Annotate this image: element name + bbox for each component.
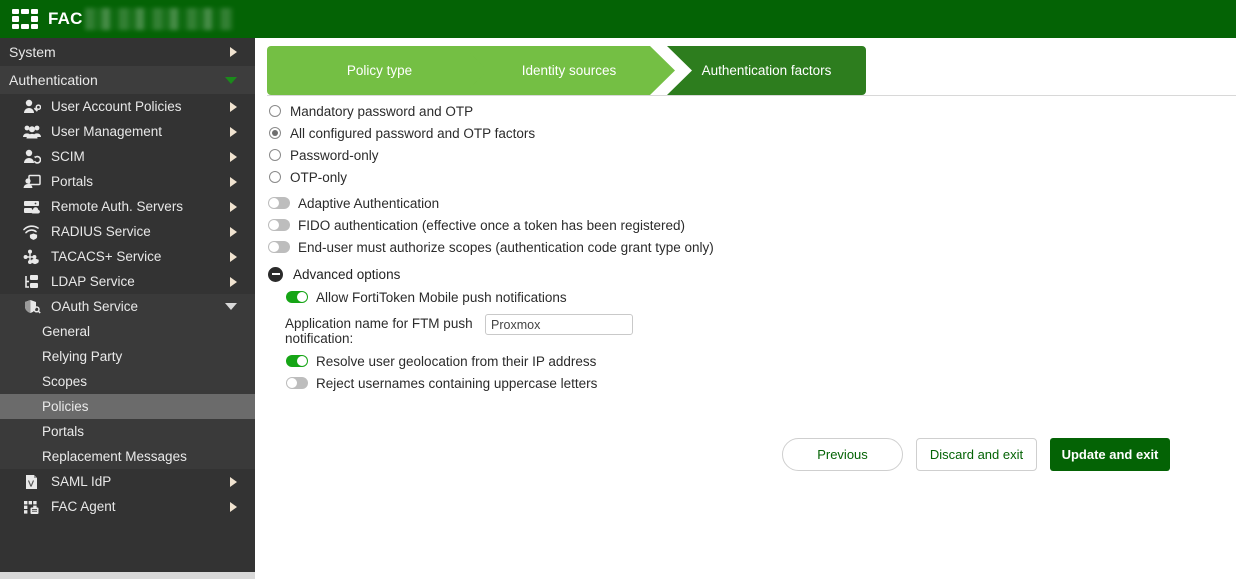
brand-title: FAC	[48, 9, 83, 29]
sidebar-item-label: OAuth Service	[51, 299, 225, 314]
ftm-app-name-label: Application name for FTM push notificati…	[285, 314, 485, 346]
sidebar-item-scim[interactable]: SCIM	[0, 144, 255, 169]
toggle-label: Resolve user geolocation from their IP a…	[316, 354, 596, 369]
sidebar-item-user-management[interactable]: User Management	[0, 119, 255, 144]
radio-option-otp-only[interactable]: OTP-only	[267, 166, 1227, 188]
user-sync-icon	[22, 148, 42, 166]
sidebar-item-label: Scopes	[42, 374, 87, 389]
sidebar-item-label: Portals	[51, 174, 230, 189]
sidebar-item-relying-party[interactable]: Relying Party	[0, 344, 255, 369]
toggle-row-fido-auth[interactable]: FIDO authentication (effective once a to…	[267, 214, 1227, 236]
chevron-right-icon	[230, 152, 237, 162]
sidebar-item-label: Policies	[42, 399, 89, 414]
sidebar-item-label: LDAP Service	[51, 274, 230, 289]
sidebar-item-remote-auth-servers[interactable]: Remote Auth. Servers	[0, 194, 255, 219]
toggle-row-ftm-push[interactable]: Allow FortiToken Mobile push notificatio…	[285, 286, 1227, 308]
chevron-right-icon	[230, 102, 237, 112]
sidebar-item-label: General	[42, 324, 90, 339]
chevron-right-icon	[230, 502, 237, 512]
toggle-label: FIDO authentication (effective once a to…	[298, 218, 685, 233]
toggle-end-user-authorize-scopes[interactable]	[268, 241, 290, 253]
radio-all-configured-factors[interactable]	[269, 127, 281, 139]
oauth-service-group: OAuth Service General Relying Party Scop…	[0, 294, 255, 469]
toggle-resolve-user-geolocation[interactable]	[286, 355, 308, 367]
toggle-row-adaptive-auth[interactable]: Adaptive Authentication	[267, 192, 1227, 214]
sidebar-bottom-strip	[0, 572, 255, 579]
radio-password-only[interactable]	[269, 149, 281, 161]
wizard-step-label: Policy type	[347, 63, 412, 78]
chevron-right-icon	[230, 227, 237, 237]
authentication-factors-form: Mandatory password and OTP All configure…	[267, 100, 1227, 394]
sidebar-item-label: User Management	[51, 124, 230, 139]
chevron-right-icon	[230, 202, 237, 212]
toggle-label: End-user must authorize scopes (authenti…	[298, 240, 714, 255]
radius-wifi-icon	[22, 223, 42, 241]
form-actions: Previous Discard and exit Update and exi…	[782, 438, 1170, 471]
sidebar-item-label: System	[9, 44, 230, 60]
radio-label: OTP-only	[290, 170, 347, 185]
toggle-label: Allow FortiToken Mobile push notificatio…	[316, 290, 567, 305]
sidebar-item-label: SAML IdP	[51, 474, 230, 489]
sidebar-item-fac-agent[interactable]: FAC Agent	[0, 494, 255, 519]
sidebar-item-label: SCIM	[51, 149, 230, 164]
sidebar-item-oauth-service[interactable]: OAuth Service	[0, 294, 255, 319]
tacacs-nodes-icon	[22, 248, 42, 266]
toggle-label: Reject usernames containing uppercase le…	[316, 376, 597, 391]
fac-agent-icon	[22, 498, 42, 516]
radio-label: Mandatory password and OTP	[290, 104, 473, 119]
header-divider	[267, 95, 1236, 96]
redacted-hostname	[85, 8, 233, 30]
sidebar-item-label: Remote Auth. Servers	[51, 199, 230, 214]
app-header: FAC	[0, 0, 1236, 38]
toggle-row-geolocation[interactable]: Resolve user geolocation from their IP a…	[285, 350, 1227, 372]
sidebar-item-label: RADIUS Service	[51, 224, 230, 239]
update-and-exit-button[interactable]: Update and exit	[1050, 438, 1170, 471]
chevron-right-icon	[230, 127, 237, 137]
sidebar-item-saml-idp[interactable]: SAML IdP	[0, 469, 255, 494]
sidebar-item-user-account-policies[interactable]: User Account Policies	[0, 94, 255, 119]
toggle-allow-ftm-push-notifications[interactable]	[286, 291, 308, 303]
user-wrench-icon	[22, 98, 42, 116]
users-icon	[22, 123, 42, 141]
sidebar-item-scopes[interactable]: Scopes	[0, 369, 255, 394]
wizard-step-policy-type[interactable]: Policy type	[267, 46, 492, 95]
toggle-row-authorize-scopes[interactable]: End-user must authorize scopes (authenti…	[267, 236, 1227, 258]
minus-circle-icon[interactable]	[268, 267, 283, 282]
grid-logo-icon	[12, 9, 38, 29]
chevron-right-icon	[230, 47, 237, 57]
sidebar-item-radius-service[interactable]: RADIUS Service	[0, 219, 255, 244]
wizard-step-label: Authentication factors	[702, 63, 832, 78]
sidebar-item-label: Replacement Messages	[42, 449, 187, 464]
sidebar-item-label: Authentication	[9, 72, 225, 88]
toggle-row-reject-uppercase[interactable]: Reject usernames containing uppercase le…	[285, 372, 1227, 394]
sidebar-item-replacement-messages[interactable]: Replacement Messages	[0, 444, 255, 469]
ldap-tree-icon	[22, 273, 42, 291]
sidebar-item-label: User Account Policies	[51, 99, 230, 114]
sidebar-item-label: FAC Agent	[51, 499, 230, 514]
app-window: FAC System Authentication User Account P…	[0, 0, 1236, 579]
radio-option-password-only[interactable]: Password-only	[267, 144, 1227, 166]
user-screen-icon	[22, 173, 42, 191]
saml-document-icon	[22, 473, 42, 491]
wizard-step-identity-sources[interactable]: Identity sources	[463, 46, 675, 95]
chevron-down-icon	[225, 77, 237, 84]
radio-label: All configured password and OTP factors	[290, 126, 535, 141]
sidebar-item-system[interactable]: System	[0, 38, 255, 66]
sidebar-item-tacacs-service[interactable]: TACACS+ Service	[0, 244, 255, 269]
sidebar-item-ldap-service[interactable]: LDAP Service	[0, 269, 255, 294]
advanced-options-body: Allow FortiToken Mobile push notificatio…	[267, 286, 1227, 394]
sidebar-item-label: Relying Party	[42, 349, 122, 364]
sidebar-item-portals[interactable]: Portals	[0, 169, 255, 194]
radio-label: Password-only	[290, 148, 379, 163]
sidebar-item-general[interactable]: General	[0, 319, 255, 344]
ftm-app-name-input[interactable]	[485, 314, 633, 335]
chevron-down-icon	[225, 303, 237, 310]
radio-otp-only[interactable]	[269, 171, 281, 183]
oauth-shield-key-icon	[22, 298, 42, 316]
server-cloud-icon	[22, 198, 42, 216]
previous-button[interactable]: Previous	[782, 438, 903, 471]
toggle-fido-authentication[interactable]	[268, 219, 290, 231]
chevron-right-icon	[230, 277, 237, 287]
radio-mandatory-password-otp[interactable]	[269, 105, 281, 117]
toggle-reject-uppercase-usernames[interactable]	[286, 377, 308, 389]
sidebar-item-policies[interactable]: Policies	[0, 394, 255, 419]
ftm-app-name-row: Application name for FTM push notificati…	[285, 314, 1227, 346]
sidebar-item-label: TACACS+ Service	[51, 249, 230, 264]
sidebar-item-oauth-portals[interactable]: Portals	[0, 419, 255, 444]
main-content: Policy type Identity sources Authenticat…	[255, 38, 1236, 579]
sidebar-item-authentication[interactable]: Authentication	[0, 66, 255, 94]
toggle-adaptive-authentication[interactable]	[268, 197, 290, 209]
chevron-right-icon	[230, 177, 237, 187]
radio-option-mandatory[interactable]: Mandatory password and OTP	[267, 100, 1227, 122]
advanced-options-header[interactable]: Advanced options	[267, 262, 1227, 286]
wizard-step-authentication-factors[interactable]: Authentication factors	[667, 46, 866, 95]
radio-option-all-configured[interactable]: All configured password and OTP factors	[267, 122, 1227, 144]
advanced-options-label: Advanced options	[293, 267, 400, 282]
discard-and-exit-button[interactable]: Discard and exit	[916, 438, 1037, 471]
chevron-right-icon	[230, 252, 237, 262]
chevron-right-icon	[230, 477, 237, 487]
sidebar-item-label: Portals	[42, 424, 84, 439]
sidebar: System Authentication User Account Polic…	[0, 38, 255, 572]
toggle-label: Adaptive Authentication	[298, 196, 439, 211]
wizard-step-label: Identity sources	[522, 63, 617, 78]
wizard-steps: Policy type Identity sources Authenticat…	[267, 46, 867, 95]
